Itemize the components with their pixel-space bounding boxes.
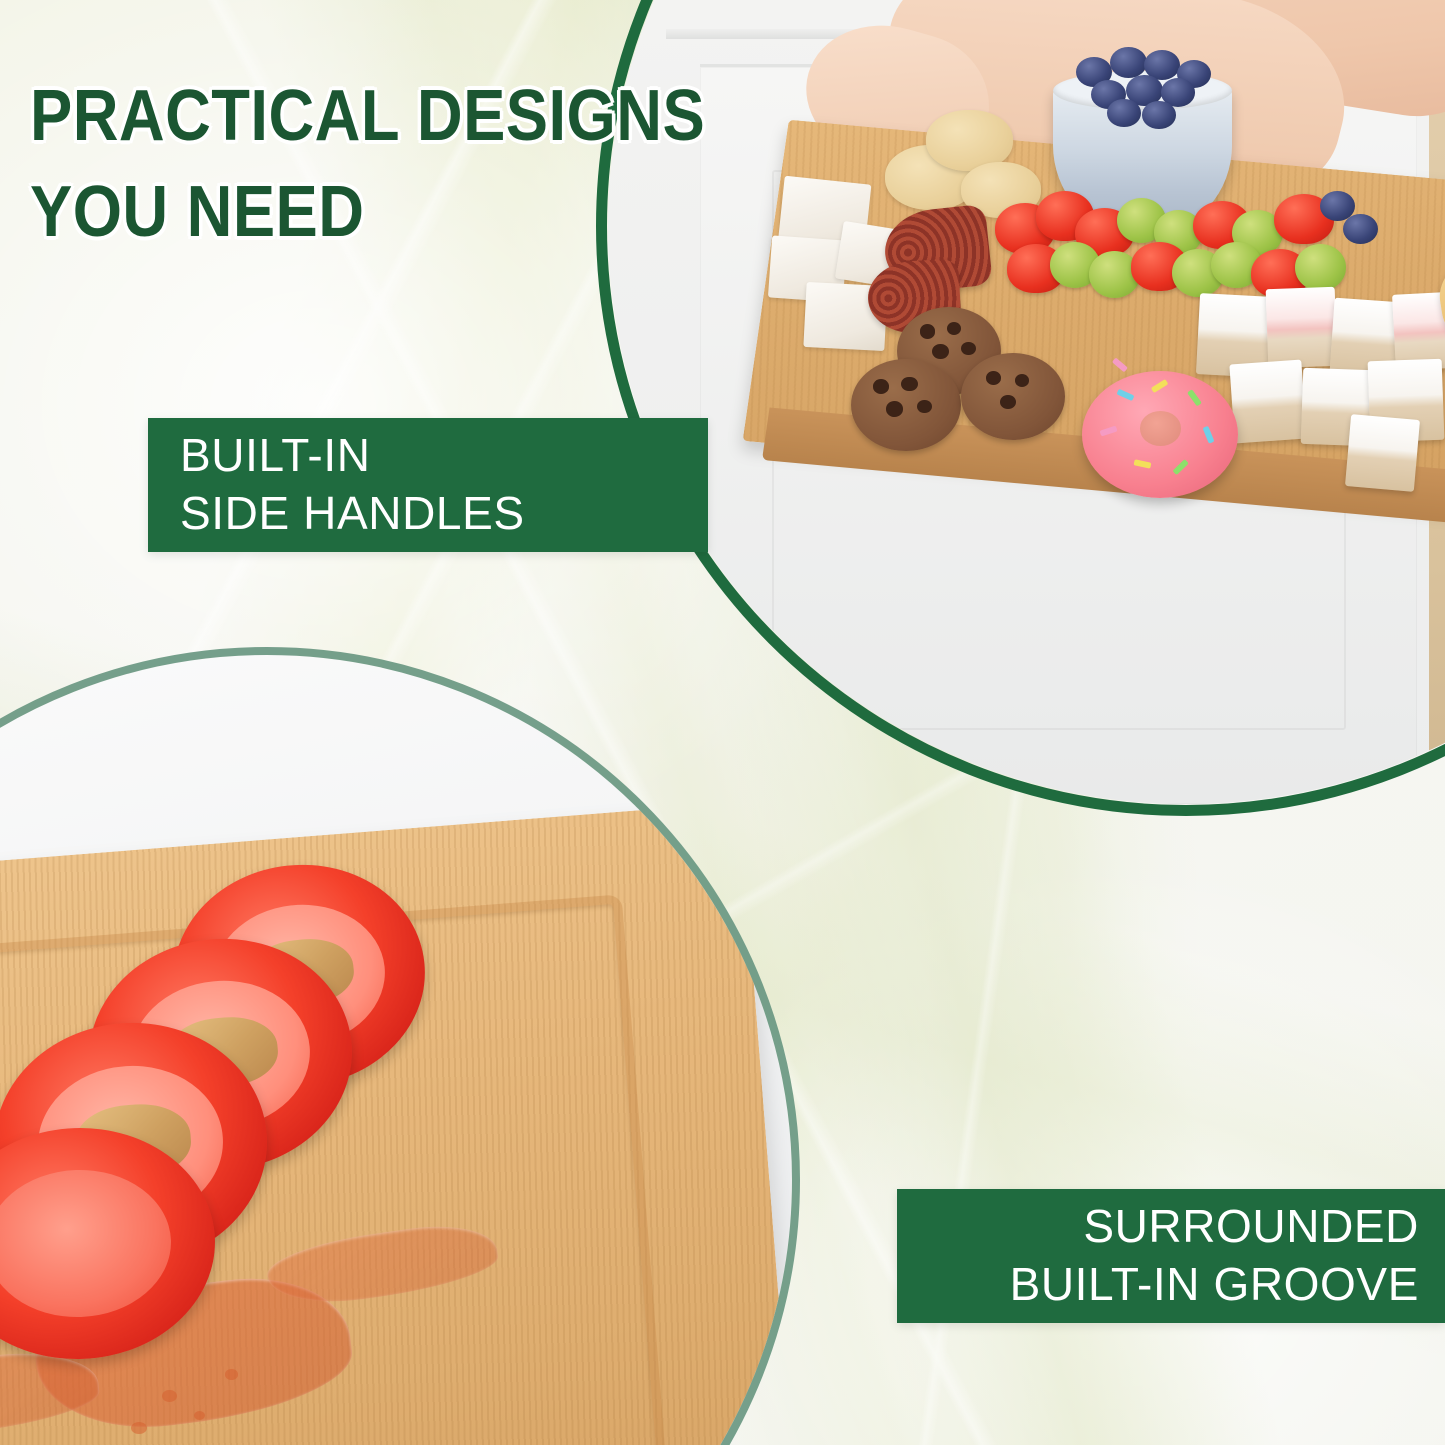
banner-groove-line-1: SURROUNDED bbox=[1083, 1198, 1419, 1256]
page-title: PRACTICAL DESIGNS YOU NEED bbox=[30, 78, 790, 251]
banner-handles-line-1: BUILT-IN bbox=[180, 427, 371, 485]
headline-line-2: YOU NEED bbox=[30, 174, 699, 250]
banner-groove-line-2: BUILT-IN GROOVE bbox=[1010, 1256, 1419, 1314]
product-feature-graphic: Hómaxy bbox=[0, 0, 1445, 1445]
feature-banner-built-in-groove: SURROUNDED BUILT-IN GROOVE bbox=[897, 1189, 1445, 1323]
headline-line-1: PRACTICAL DESIGNS bbox=[30, 78, 699, 154]
feature-banner-side-handles: BUILT-IN SIDE HANDLES bbox=[148, 418, 708, 552]
banner-handles-line-2: SIDE HANDLES bbox=[180, 485, 525, 543]
